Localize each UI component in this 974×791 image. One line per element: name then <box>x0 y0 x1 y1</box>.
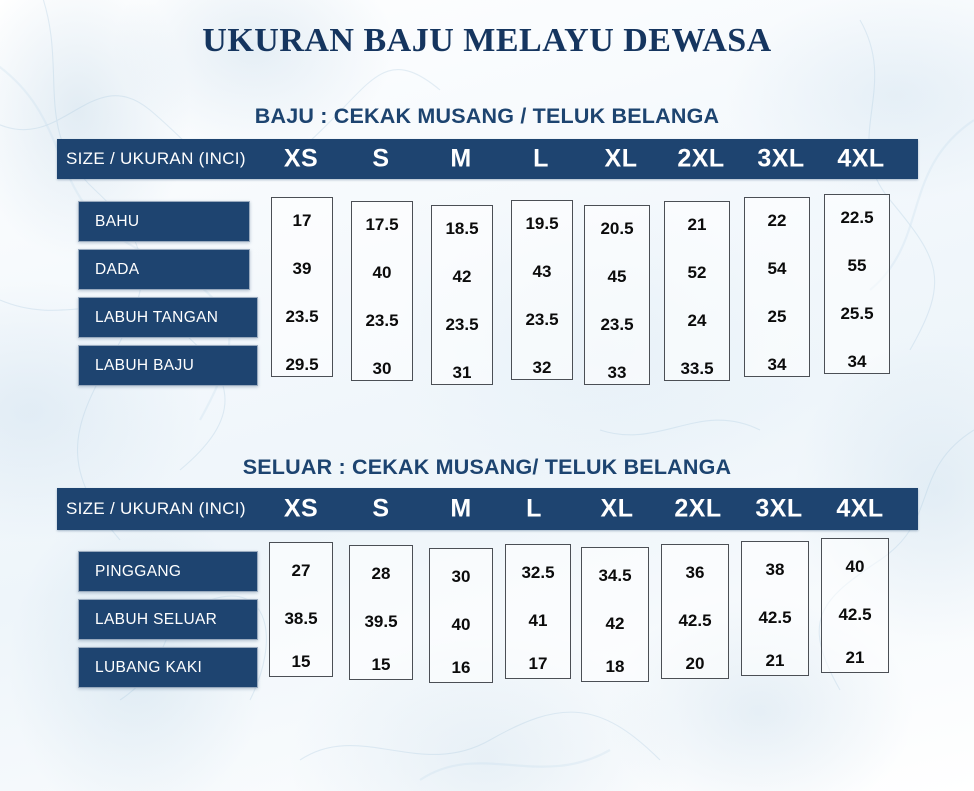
seluar-column-2xl: 36 42.5 20 <box>661 544 729 679</box>
seluar-cell-s-lubang-kaki: 15 <box>350 655 412 675</box>
baju-cell-2xl-labuh-baju: 33.5 <box>665 359 729 379</box>
seluar-cell-3xl-pinggang: 38 <box>742 560 808 580</box>
seluar-size-code-xs: XS <box>284 495 318 524</box>
seluar-row-label-pinggang: PINGGANG <box>78 551 258 592</box>
baju-column-xs: 17 39 23.5 29.5 <box>271 197 333 377</box>
baju-cell-xs-labuh-tangan: 23.5 <box>272 307 332 327</box>
baju-size-code-s: S <box>372 145 389 174</box>
seluar-cell-xs-pinggang: 27 <box>270 561 332 581</box>
baju-cell-s-bahu: 17.5 <box>352 215 412 235</box>
baju-cell-l-dada: 43 <box>512 262 572 282</box>
section-title-seluar: SELUAR : CEKAK MUSANG/ TELUK BELANGA <box>0 455 974 480</box>
baju-cell-xl-labuh-baju: 33 <box>585 363 649 383</box>
seluar-column-4xl: 40 42.5 21 <box>821 538 889 673</box>
seluar-column-s: 28 39.5 15 <box>349 545 413 680</box>
seluar-column-xs: 27 38.5 15 <box>269 542 333 677</box>
seluar-cell-2xl-lubang-kaki: 20 <box>662 654 728 674</box>
baju-column-2xl: 21 52 24 33.5 <box>664 201 730 381</box>
seluar-cell-3xl-labuh-seluar: 42.5 <box>742 608 808 628</box>
baju-column-3xl: 22 54 25 34 <box>744 197 810 377</box>
seluar-column-l: 32.5 41 17 <box>505 544 571 679</box>
baju-cell-4xl-labuh-tangan: 25.5 <box>825 304 889 324</box>
baju-cell-l-labuh-baju: 32 <box>512 358 572 378</box>
baju-cell-l-bahu: 19.5 <box>512 214 572 234</box>
baju-cell-xl-bahu: 20.5 <box>585 219 649 239</box>
seluar-size-code-l: L <box>526 495 542 524</box>
baju-table-header: SIZE / UKURAN (INCI) XS S M L XL 2XL 3XL… <box>57 139 918 179</box>
baju-cell-m-labuh-baju: 31 <box>432 363 492 383</box>
seluar-cell-l-labuh-seluar: 41 <box>506 611 570 631</box>
seluar-size-code-s: S <box>372 495 389 524</box>
seluar-size-code-3xl: 3XL <box>755 495 802 524</box>
baju-row-label-labuh-tangan: LABUH TANGAN <box>78 297 258 338</box>
baju-row-label-bahu: BAHU <box>78 201 250 242</box>
baju-cell-3xl-dada: 54 <box>745 259 809 279</box>
baju-cell-m-labuh-tangan: 23.5 <box>432 315 492 335</box>
baju-cell-2xl-bahu: 21 <box>665 215 729 235</box>
baju-cell-xs-bahu: 17 <box>272 211 332 231</box>
seluar-size-code-4xl: 4XL <box>836 495 883 524</box>
baju-column-m: 18.5 42 23.5 31 <box>431 205 493 385</box>
page-title: UKURAN BAJU MELAYU DEWASA <box>0 22 974 60</box>
baju-column-l: 19.5 43 23.5 32 <box>511 200 573 380</box>
seluar-cell-xs-labuh-seluar: 38.5 <box>270 609 332 629</box>
baju-size-code-xs: XS <box>284 145 318 174</box>
baju-cell-s-dada: 40 <box>352 263 412 283</box>
baju-cell-4xl-bahu: 22.5 <box>825 208 889 228</box>
baju-cell-3xl-labuh-tangan: 25 <box>745 307 809 327</box>
section-title-baju: BAJU : CEKAK MUSANG / TELUK BELANGA <box>0 104 974 129</box>
seluar-cell-l-pinggang: 32.5 <box>506 563 570 583</box>
baju-cell-xs-labuh-baju: 29.5 <box>272 355 332 375</box>
seluar-table-header: SIZE / UKURAN (INCI) XS S M L XL 2XL 3XL… <box>57 488 918 530</box>
baju-cell-xl-labuh-tangan: 23.5 <box>585 315 649 335</box>
baju-cell-m-dada: 42 <box>432 267 492 287</box>
seluar-cell-3xl-lubang-kaki: 21 <box>742 651 808 671</box>
seluar-row-label-labuh-seluar: LABUH SELUAR <box>78 599 258 640</box>
baju-cell-3xl-bahu: 22 <box>745 211 809 231</box>
baju-size-code-3xl: 3XL <box>757 145 804 174</box>
baju-column-s: 17.5 40 23.5 30 <box>351 201 413 381</box>
baju-cell-xl-dada: 45 <box>585 267 649 287</box>
baju-size-code-l: L <box>533 145 549 174</box>
seluar-cell-xl-pinggang: 34.5 <box>582 566 648 586</box>
baju-cell-2xl-labuh-tangan: 24 <box>665 311 729 331</box>
seluar-size-code-xl: XL <box>601 495 634 524</box>
seluar-cell-m-pinggang: 30 <box>430 567 492 587</box>
seluar-row-label-lubang-kaki: LUBANG KAKI <box>78 647 258 688</box>
seluar-cell-m-labuh-seluar: 40 <box>430 615 492 635</box>
seluar-cell-xs-lubang-kaki: 15 <box>270 652 332 672</box>
baju-size-code-2xl: 2XL <box>677 145 724 174</box>
baju-cell-4xl-labuh-baju: 34 <box>825 352 889 372</box>
baju-column-4xl: 22.5 55 25.5 34 <box>824 194 890 374</box>
seluar-size-header-label: SIZE / UKURAN (INCI) <box>66 499 246 519</box>
baju-cell-4xl-dada: 55 <box>825 256 889 276</box>
seluar-cell-2xl-pinggang: 36 <box>662 563 728 583</box>
seluar-cell-xl-lubang-kaki: 18 <box>582 657 648 677</box>
baju-size-code-m: M <box>450 145 471 174</box>
seluar-cell-xl-labuh-seluar: 42 <box>582 614 648 634</box>
seluar-cell-s-pinggang: 28 <box>350 564 412 584</box>
seluar-cell-l-lubang-kaki: 17 <box>506 654 570 674</box>
seluar-column-3xl: 38 42.5 21 <box>741 541 809 676</box>
seluar-cell-s-labuh-seluar: 39.5 <box>350 612 412 632</box>
baju-size-code-4xl: 4XL <box>837 145 884 174</box>
baju-cell-s-labuh-baju: 30 <box>352 359 412 379</box>
seluar-cell-m-lubang-kaki: 16 <box>430 658 492 678</box>
baju-cell-l-labuh-tangan: 23.5 <box>512 310 572 330</box>
baju-size-header-label: SIZE / UKURAN (INCI) <box>66 149 246 169</box>
seluar-cell-4xl-lubang-kaki: 21 <box>822 648 888 668</box>
baju-size-code-xl: XL <box>605 145 638 174</box>
baju-cell-xs-dada: 39 <box>272 259 332 279</box>
baju-cell-m-bahu: 18.5 <box>432 219 492 239</box>
baju-cell-3xl-labuh-baju: 34 <box>745 355 809 375</box>
baju-row-label-labuh-baju: LABUH BAJU <box>78 345 258 386</box>
seluar-cell-4xl-pinggang: 40 <box>822 557 888 577</box>
seluar-cell-2xl-labuh-seluar: 42.5 <box>662 611 728 631</box>
seluar-column-m: 30 40 16 <box>429 548 493 683</box>
baju-cell-s-labuh-tangan: 23.5 <box>352 311 412 331</box>
seluar-size-code-2xl: 2XL <box>674 495 721 524</box>
seluar-cell-4xl-labuh-seluar: 42.5 <box>822 605 888 625</box>
seluar-size-code-m: M <box>450 495 471 524</box>
seluar-column-xl: 34.5 42 18 <box>581 547 649 682</box>
baju-cell-2xl-dada: 52 <box>665 263 729 283</box>
baju-row-label-dada: DADA <box>78 249 250 290</box>
baju-column-xl: 20.5 45 23.5 33 <box>584 205 650 385</box>
